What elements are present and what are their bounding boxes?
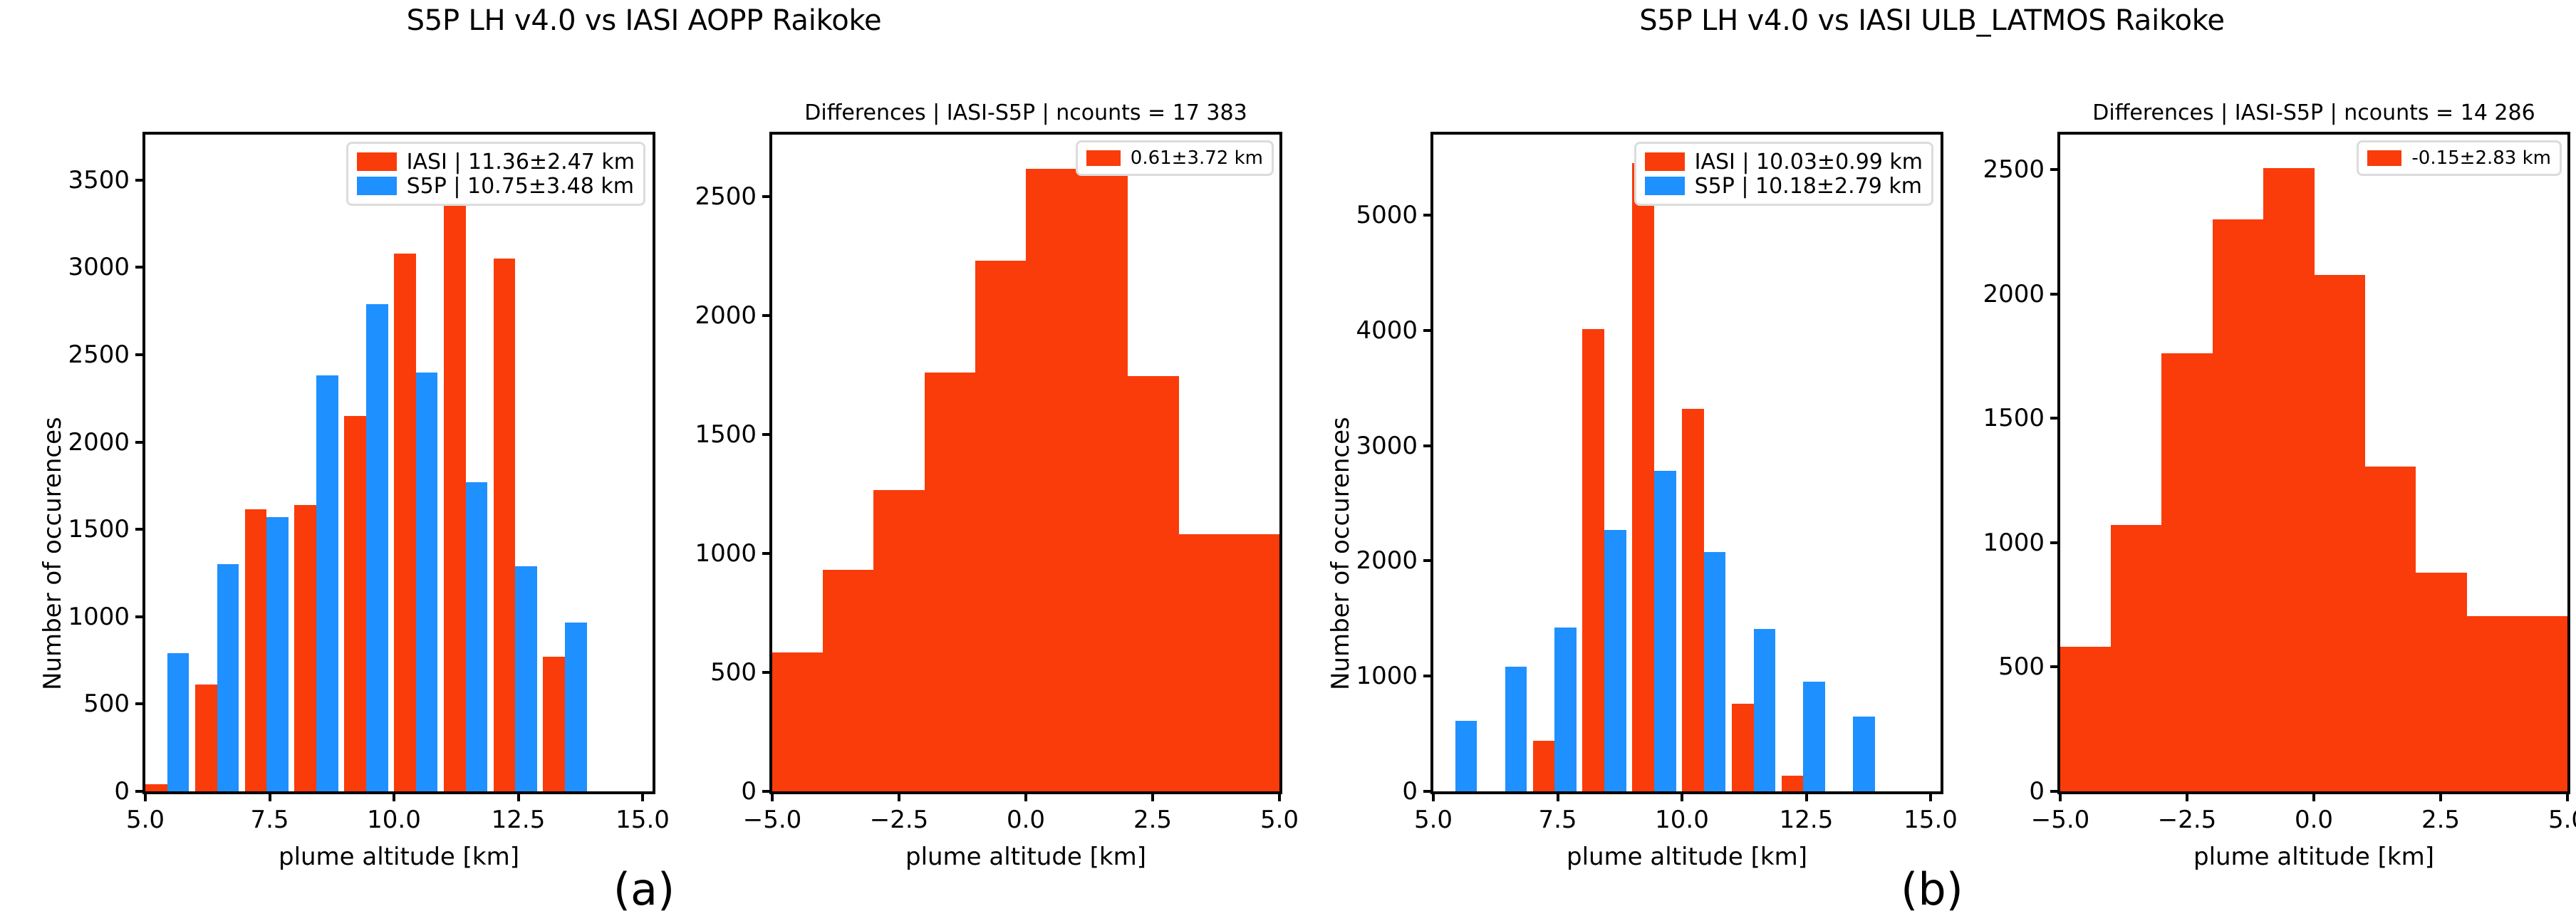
x-axis-tick (1278, 791, 1281, 801)
y-axis-tick (135, 702, 145, 705)
y-axis-tick (762, 195, 772, 198)
axes-hist-a-main: Number of occurences plume altitude [km]… (142, 132, 655, 794)
plot-area-hist-a-main (145, 135, 653, 791)
legend-hist-a-main[interactable]: IASI | 11.36±2.47 km S5P | 10.75±3.48 km (346, 142, 645, 206)
histogram-bar (2161, 353, 2213, 791)
figure-canvas: S5P LH v4.0 vs IASI AOPP Raikoke Number … (0, 0, 2576, 921)
histogram-bar (1076, 169, 1128, 791)
x-axis-tick (1557, 791, 1559, 801)
histogram-bar (444, 197, 466, 791)
axes-hist-b-diff: Differences | IASI-S5P | ncounts = 14 28… (2057, 132, 2570, 794)
y-axis-tick (1423, 559, 1433, 562)
histogram-bar (2466, 616, 2518, 791)
histogram-bar (2314, 275, 2365, 791)
x-axis-tick-label: 0.0 (2295, 806, 2333, 834)
y-axis-tick (135, 441, 145, 444)
x-axis-tick (517, 791, 520, 801)
x-axis-tick-label: 5.0 (126, 806, 165, 834)
y-axis-tick-label: 2500 (68, 340, 130, 369)
x-axis-tick (2186, 791, 2188, 801)
histogram-bar (2213, 219, 2264, 791)
legend-swatch-differences-icon (1086, 150, 1121, 166)
x-axis-tick-label: −2.5 (2158, 806, 2217, 834)
histogram-bar (145, 784, 167, 791)
figure-group-a: S5P LH v4.0 vs IASI AOPP Raikoke Number … (0, 0, 1288, 921)
x-axis-tick-label: 10.0 (1655, 806, 1709, 834)
histogram-bar (543, 657, 565, 791)
plot-area-hist-b-diff (2060, 135, 2567, 791)
legend-row-s5p: S5P | 10.18±2.79 km (1645, 174, 1923, 198)
y-axis-tick (762, 552, 772, 555)
legend-swatch-iasi-icon (1645, 152, 1685, 171)
histogram-bar (1178, 534, 1230, 791)
histogram-bar (294, 505, 316, 791)
histogram-bar (1782, 776, 1804, 791)
histogram-bar (823, 570, 874, 791)
x-axis-tick-label: 5.0 (1414, 806, 1453, 834)
y-axis-tick (2050, 790, 2060, 793)
histogram-bar (316, 375, 338, 791)
histogram-bar (2060, 647, 2112, 791)
y-axis-tick (2050, 417, 2060, 420)
histogram-bar (466, 482, 488, 791)
y-axis-tick (135, 179, 145, 182)
x-axis-tick-label: 7.5 (250, 806, 289, 834)
y-axis-tick-label: 2000 (68, 428, 130, 457)
legend-row-s5p: S5P | 10.75±3.48 km (357, 174, 635, 198)
x-axis-tick-label: −5.0 (743, 806, 802, 834)
y-axis-tick-label: 3500 (68, 166, 130, 194)
histogram-bar (266, 517, 289, 791)
histogram-bar (1732, 704, 1754, 791)
histogram-bar (1853, 717, 1875, 791)
x-axis-tick (1681, 791, 1683, 801)
y-axis-tick-label: 500 (1998, 652, 2045, 681)
y-axis-tick-label: 0 (1402, 777, 1418, 806)
y-axis-tick-label: 1500 (1983, 404, 2045, 432)
x-axis-tick (144, 791, 147, 801)
legend-hist-b-diff[interactable]: -0.15±2.83 km (2357, 140, 2562, 176)
axes-hist-b-main-ylabel: Number of occurences (1326, 417, 1355, 690)
y-axis-tick (1423, 329, 1433, 332)
group-b-panel-label: (b) (1288, 863, 2576, 915)
histogram-bar (565, 623, 587, 791)
histogram-bar (1704, 552, 1726, 791)
axes-hist-b-main: Number of occurences plume altitude [km]… (1430, 132, 1943, 794)
x-axis-tick-label: 0.0 (1007, 806, 1045, 834)
x-axis-tick (641, 791, 644, 801)
y-axis-tick-label: 5000 (1356, 201, 1418, 229)
histogram-bar (167, 653, 189, 791)
x-axis-tick-label: 12.5 (492, 806, 546, 834)
group-b-suptitle: S5P LH v4.0 vs IASI ULB_LATMOS Raikoke (1288, 4, 2576, 37)
legend-hist-b-main[interactable]: IASI | 10.03±0.99 km S5P | 10.18±2.79 km (1634, 142, 1933, 206)
histogram-bar (494, 259, 516, 791)
legend-swatch-s5p-icon (357, 177, 397, 195)
axes-hist-a-main-ylabel: Number of occurences (38, 417, 67, 690)
histogram-bar (925, 373, 976, 791)
x-axis-tick-label: 7.5 (1538, 806, 1577, 834)
histogram-bar (416, 373, 438, 792)
legend-label-iasi: IASI | 11.36±2.47 km (407, 150, 635, 175)
y-axis-tick (135, 353, 145, 356)
y-axis-tick (762, 433, 772, 436)
x-axis-tick-label: −2.5 (870, 806, 929, 834)
y-axis-tick (1423, 790, 1433, 793)
histogram-bar (515, 566, 537, 791)
histogram-bar (394, 254, 416, 791)
legend-swatch-differences-icon (2367, 150, 2401, 166)
histogram-bar (1455, 721, 1477, 791)
y-axis-tick (135, 528, 145, 531)
y-axis-tick-label: 1500 (695, 420, 757, 449)
y-axis-tick (2050, 665, 2060, 668)
x-axis-tick (1805, 791, 1808, 801)
histogram-bar (1505, 667, 1527, 791)
x-axis-tick (1024, 791, 1027, 801)
x-axis-tick-label: 15.0 (1904, 806, 1958, 834)
y-axis-tick-label: 0 (2029, 777, 2045, 806)
histogram-bar (1554, 628, 1577, 791)
group-a-suptitle: S5P LH v4.0 vs IASI AOPP Raikoke (0, 4, 1288, 37)
histogram-bar (366, 304, 388, 791)
histogram-bar (1803, 682, 1825, 791)
histogram-bar (772, 652, 824, 791)
legend-swatch-iasi-icon (357, 152, 397, 171)
y-axis-tick-label: 3000 (68, 253, 130, 281)
group-a-panel-label: (a) (0, 863, 1288, 915)
y-axis-tick-label: 1000 (1983, 529, 2045, 557)
y-axis-tick (2050, 168, 2060, 171)
y-axis-tick-label: 2000 (695, 301, 757, 330)
histogram-bar (2364, 467, 2416, 791)
histogram-bar (245, 509, 267, 791)
histogram-bar (2517, 616, 2567, 791)
legend-hist-a-diff[interactable]: 0.61±3.72 km (1076, 140, 1274, 176)
histogram-bar (217, 564, 239, 791)
x-axis-tick-label: 2.5 (2421, 806, 2460, 834)
histogram-bar (1533, 741, 1555, 791)
legend-label-s5p: S5P | 10.18±2.79 km (1695, 174, 1922, 199)
legend-row-iasi: IASI | 10.03±0.99 km (1645, 150, 1923, 174)
histogram-bar (1026, 169, 1077, 791)
x-axis-tick (393, 791, 395, 801)
y-axis-tick-label: 500 (83, 690, 130, 718)
y-axis-tick-label: 1500 (68, 515, 130, 543)
x-axis-tick-label: 12.5 (1780, 806, 1834, 834)
legend-label-differences: -0.15±2.83 km (2411, 147, 2551, 169)
histogram-bar (195, 685, 217, 791)
legend-row-iasi: IASI | 11.36±2.47 km (357, 150, 635, 174)
histogram-bar (1632, 163, 1654, 791)
legend-label-s5p: S5P | 10.75±3.48 km (407, 174, 634, 199)
plot-area-hist-b-main (1433, 135, 1941, 791)
y-axis-tick-label: 4000 (1356, 316, 1418, 345)
legend-label-iasi: IASI | 10.03±0.99 km (1695, 150, 1923, 175)
y-axis-tick-label: 0 (114, 777, 130, 806)
x-axis-tick (2312, 791, 2315, 801)
legend-label-differences: 0.61±3.72 km (1131, 147, 1263, 169)
y-axis-tick-label: 1000 (68, 603, 130, 631)
y-axis-tick (762, 790, 772, 793)
figure-group-b: S5P LH v4.0 vs IASI ULB_LATMOS Raikoke N… (1288, 0, 2576, 921)
y-axis-tick-label: 0 (741, 777, 757, 806)
y-axis-tick (135, 266, 145, 269)
y-axis-tick (135, 615, 145, 618)
x-axis-tick (2059, 791, 2062, 801)
x-axis-tick (898, 791, 900, 801)
y-axis-tick-label: 2000 (1983, 280, 2045, 308)
histogram-bar (344, 416, 366, 791)
legend-row-differences: 0.61±3.72 km (1086, 148, 1263, 168)
x-axis-tick (1929, 791, 1932, 801)
x-axis-tick (1432, 791, 1435, 801)
y-axis-tick-label: 1000 (1356, 662, 1418, 690)
histogram-bar (1654, 471, 1676, 791)
x-axis-tick-label: −5.0 (2031, 806, 2090, 834)
x-axis-tick (2439, 791, 2442, 801)
x-axis-tick (1151, 791, 1154, 801)
histogram-bar (1754, 629, 1776, 791)
y-axis-tick (762, 314, 772, 317)
y-axis-tick (135, 790, 145, 793)
axes-hist-a-diff-title: Differences | IASI-S5P | ncounts = 17 38… (772, 100, 1279, 125)
x-axis-tick-label: 10.0 (367, 806, 421, 834)
histogram-bar (2263, 168, 2315, 791)
histogram-bar (1582, 329, 1604, 791)
legend-swatch-s5p-icon (1645, 177, 1685, 195)
x-axis-tick-label: 5.0 (2548, 806, 2576, 834)
y-axis-tick (2050, 293, 2060, 296)
y-axis-tick-label: 3000 (1356, 432, 1418, 460)
x-axis-tick-label: 2.5 (1133, 806, 1172, 834)
y-axis-tick-label: 1000 (695, 539, 757, 568)
histogram-bar (873, 490, 925, 791)
histogram-bar (1604, 530, 1626, 791)
y-axis-tick-label: 2500 (1983, 155, 2045, 184)
y-axis-tick-label: 2000 (1356, 546, 1418, 575)
legend-row-differences: -0.15±2.83 km (2367, 148, 2551, 168)
x-axis-tick (2566, 791, 2569, 801)
histogram-bar (1682, 409, 1704, 791)
y-axis-tick (762, 671, 772, 674)
axes-hist-b-diff-title: Differences | IASI-S5P | ncounts = 14 28… (2060, 100, 2567, 125)
axes-hist-a-diff: Differences | IASI-S5P | ncounts = 17 38… (769, 132, 1282, 794)
y-axis-tick (1423, 444, 1433, 447)
x-axis-tick (771, 791, 774, 801)
y-axis-tick (2050, 541, 2060, 544)
x-axis-tick (269, 791, 271, 801)
histogram-bar (2111, 525, 2162, 791)
y-axis-tick (1423, 214, 1433, 217)
x-axis-tick-label: 15.0 (616, 806, 670, 834)
plot-area-hist-a-diff (772, 135, 1279, 791)
y-axis-tick-label: 500 (710, 658, 757, 687)
y-axis-tick-label: 2500 (695, 182, 757, 211)
histogram-bar (975, 261, 1027, 791)
y-axis-tick (1423, 675, 1433, 677)
histogram-bar (2415, 573, 2466, 791)
histogram-bar (1229, 534, 1279, 791)
histogram-bar (1127, 376, 1178, 791)
